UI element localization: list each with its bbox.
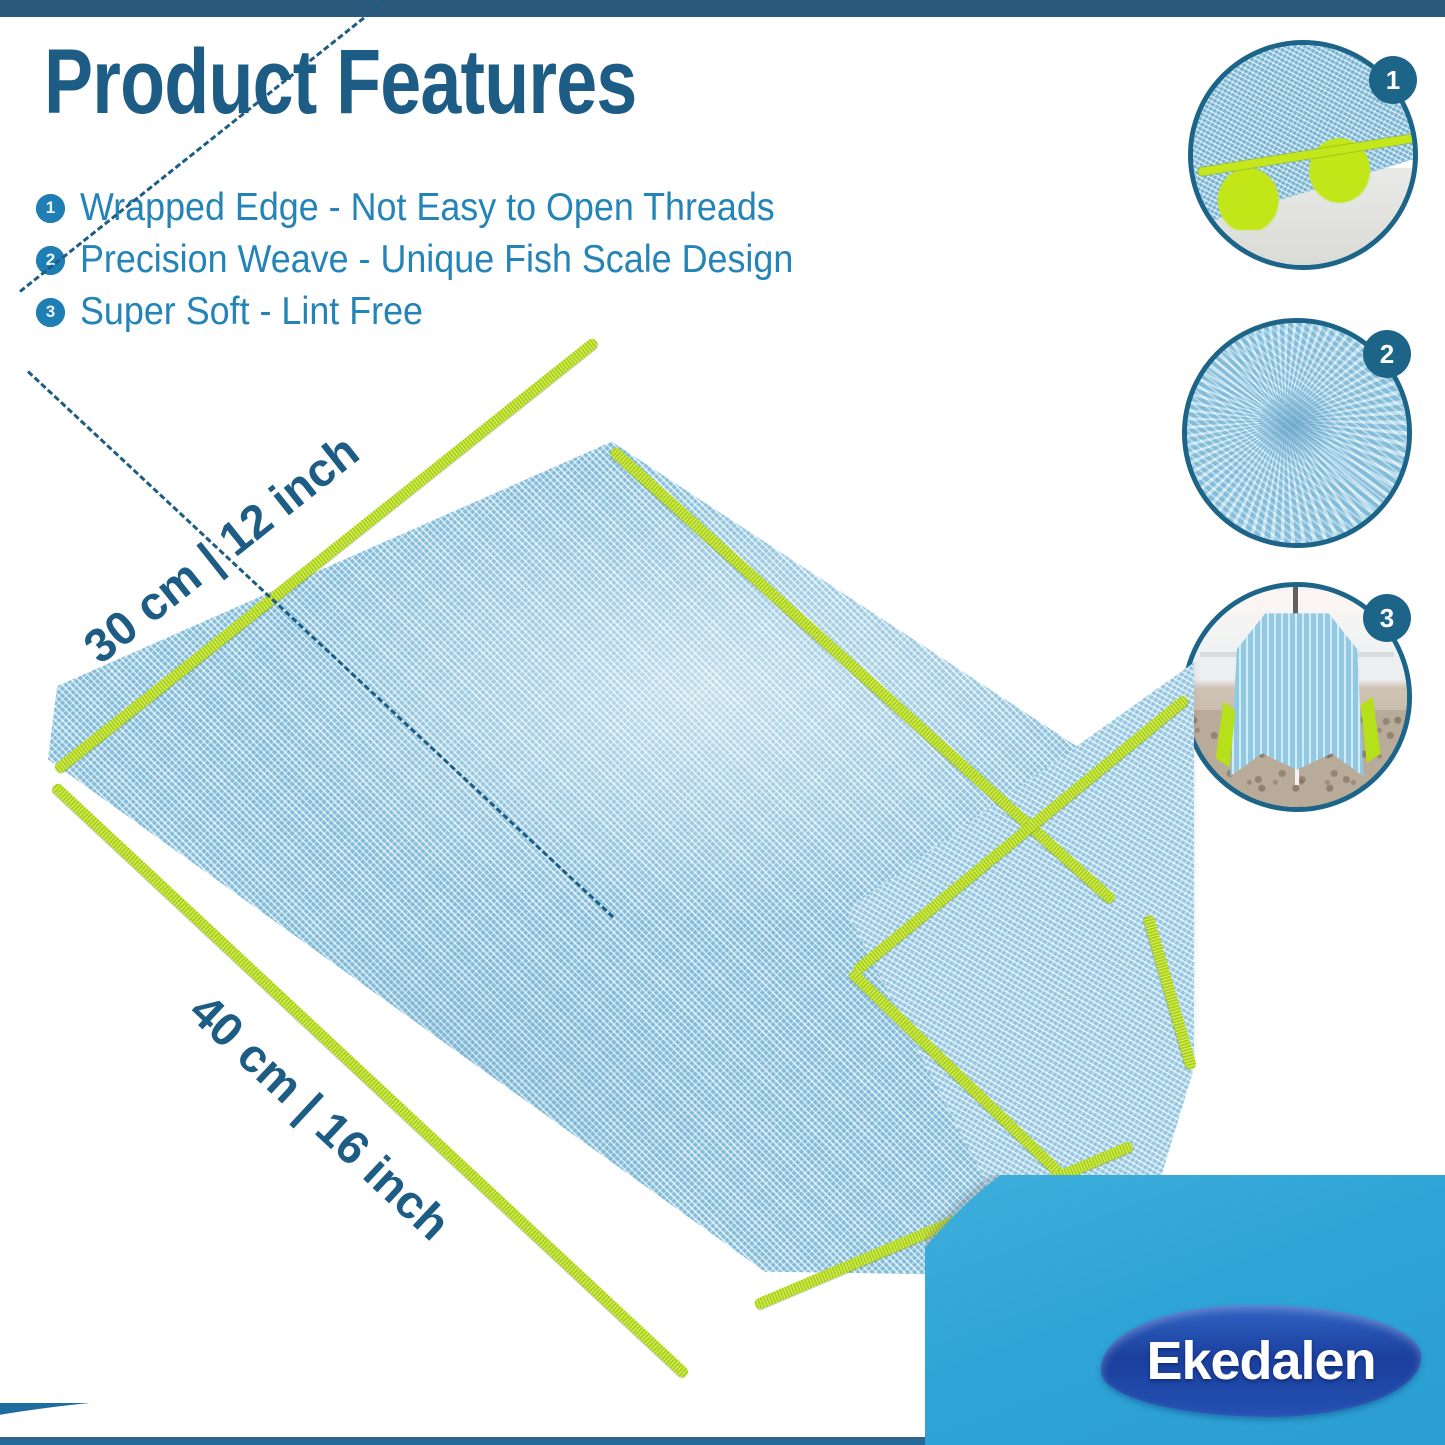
brand-name: Ekedalen <box>1101 1305 1421 1417</box>
feature-number-badge-1: 1 <box>36 194 65 223</box>
feature-number-badge-3: 3 <box>36 298 65 327</box>
detail-badge-3: 3 <box>1363 594 1411 642</box>
feature-item-3: 3 Super Soft - Lint Free <box>36 286 896 338</box>
detail-badge-1: 1 <box>1369 56 1417 104</box>
brand-corner: Ekedalen <box>925 1175 1445 1445</box>
feature-item-1: 1 Wrapped Edge - Not Easy to Open Thread… <box>36 182 896 234</box>
feature-list: 1 Wrapped Edge - Not Easy to Open Thread… <box>36 182 896 338</box>
feature-label-3: Super Soft - Lint Free <box>80 290 423 334</box>
brand-logo: Ekedalen <box>1101 1305 1421 1417</box>
feature-label-2: Precision Weave - Unique Fish Scale Desi… <box>80 238 793 282</box>
feature-label-1: Wrapped Edge - Not Easy to Open Threads <box>80 186 775 230</box>
top-border-bar <box>0 0 1445 17</box>
detail-badge-2: 2 <box>1363 330 1411 378</box>
page-title: Product Features <box>44 38 637 126</box>
feature-item-2: 2 Precision Weave - Unique Fish Scale De… <box>36 234 896 286</box>
